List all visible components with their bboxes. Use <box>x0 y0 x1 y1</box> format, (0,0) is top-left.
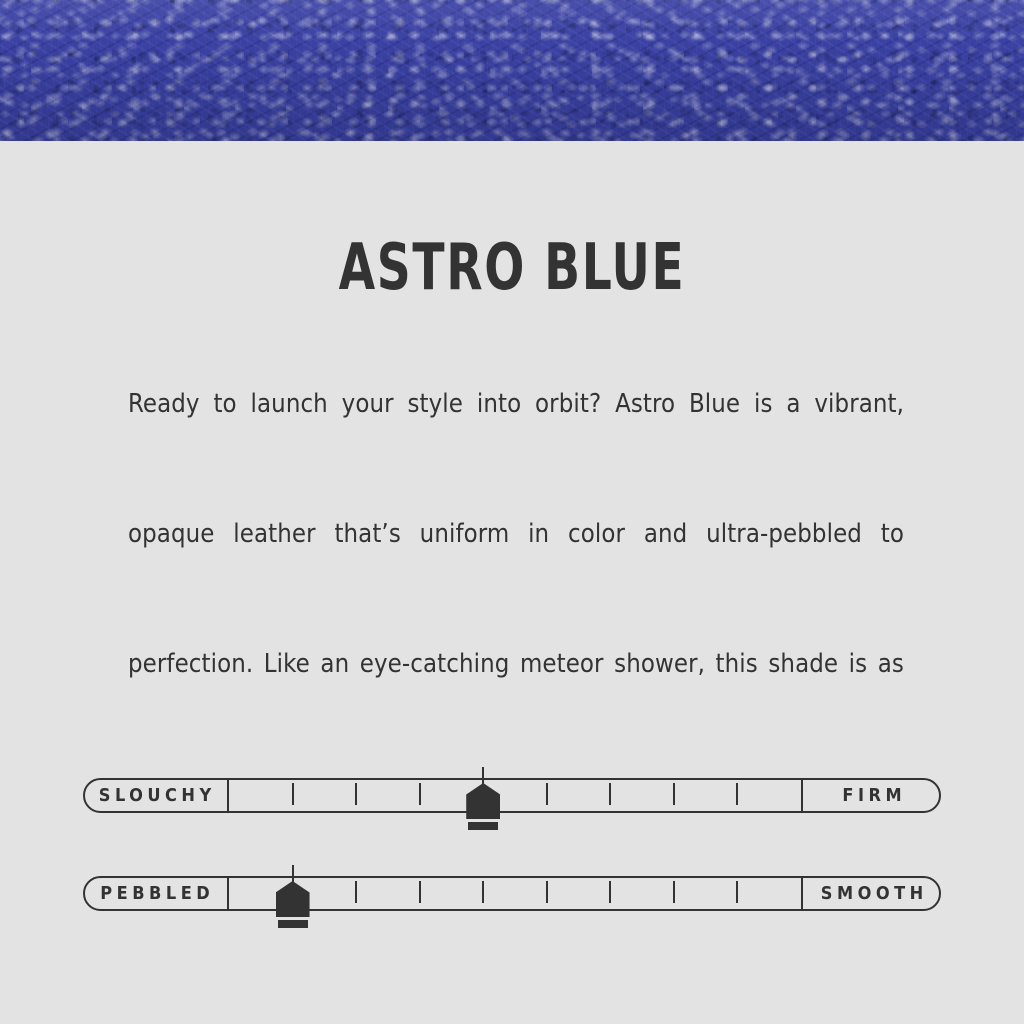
page-title: ASTRO BLUE <box>92 236 932 300</box>
leather-shading-overlay <box>0 0 1024 141</box>
scale-structure-ticks <box>229 778 801 813</box>
scale-structure[interactable]: SLOUCHY FIRM <box>83 778 941 813</box>
scale-tick <box>419 881 421 903</box>
scale-tick <box>292 783 294 805</box>
scale-tick <box>736 881 738 903</box>
scale-texture[interactable]: PEBBLED SMOOTH <box>83 876 941 911</box>
scale-structure-left-label: SLOUCHY <box>83 778 229 813</box>
scale-tick <box>673 881 675 903</box>
scale-tick <box>736 783 738 805</box>
scale-tick <box>546 783 548 805</box>
scale-tick <box>546 881 548 903</box>
description-text: Ready to launch your style into orbit? A… <box>128 372 904 827</box>
scale-tick <box>609 881 611 903</box>
scale-tick <box>355 783 357 805</box>
leather-swatch-image <box>0 0 1024 141</box>
scale-tick <box>482 881 484 903</box>
scale-tick <box>419 783 421 805</box>
product-swatch-card: ASTRO BLUE Ready to launch your style in… <box>0 0 1024 1024</box>
scale-texture-left-label: PEBBLED <box>83 876 229 911</box>
scale-texture-right-label: SMOOTH <box>801 876 941 911</box>
description-line-1: Ready to launch your style into orbit? A… <box>128 372 904 502</box>
scale-tick <box>355 881 357 903</box>
scale-structure-right-label: FIRM <box>801 778 941 813</box>
scale-tick <box>609 783 611 805</box>
scale-texture-ticks <box>229 876 801 911</box>
description-line-3: perfection. Like an eye-catching meteor … <box>128 632 904 762</box>
scale-marker-foot <box>278 920 308 928</box>
description-line-2: opaque leather that’s uniform in color a… <box>128 502 904 632</box>
scale-tick <box>673 783 675 805</box>
scale-tick <box>482 783 484 805</box>
scale-tick <box>292 881 294 903</box>
